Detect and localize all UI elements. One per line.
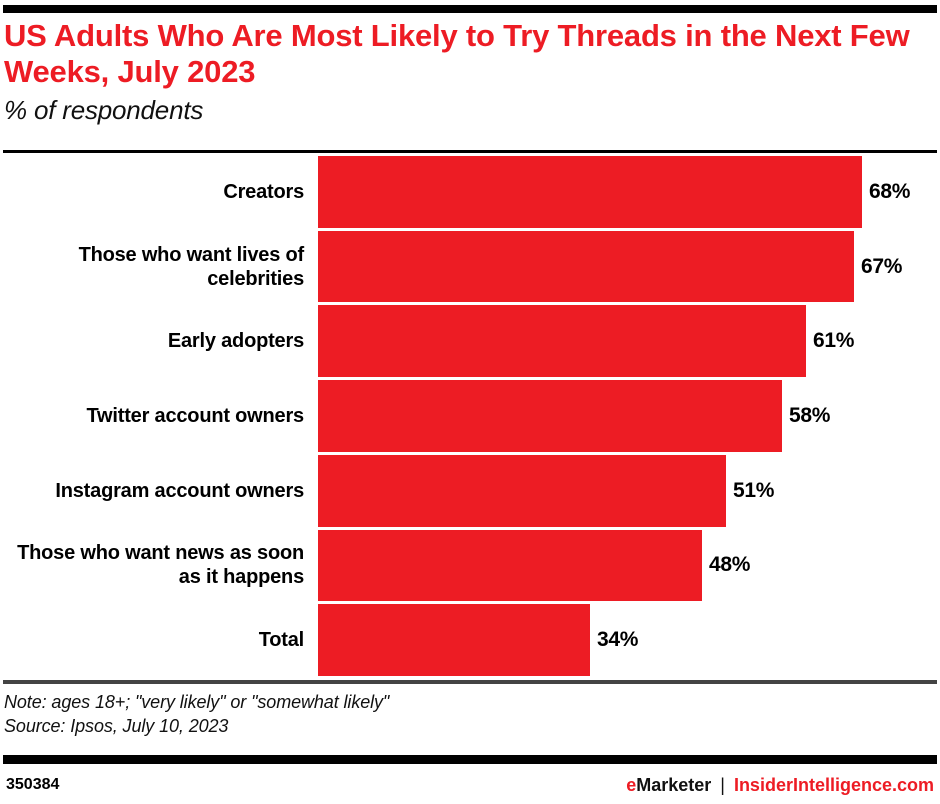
bar[interactable] [318,305,806,377]
brand-e: e [626,775,636,796]
brand-separator: | [711,775,734,796]
bar-zone: 34% [318,604,940,676]
page-title: US Adults Who Are Most Likely to Try Thr… [4,18,924,90]
chart-page: US Adults Who Are Most Likely to Try Thr… [0,0,940,804]
chart-footer: 350384 eMarketer | InsiderIntelligence.c… [0,770,940,800]
bar-category-label: Early adopters [0,305,318,377]
bar-row: Early adopters61% [0,305,940,377]
chart-subtitle: % of respondents [4,95,924,126]
bar-category-label: Instagram account owners [0,455,318,527]
bar-zone: 51% [318,455,940,527]
source-line: Source: Ipsos, July 10, 2023 [4,714,904,738]
bar-zone: 67% [318,231,940,303]
bar-category-label: Creators [0,156,318,228]
plot-bottom-rule [3,680,937,684]
bar-category-label: Total [0,604,318,676]
bar-category-label: Those who want lives of celebrities [0,231,318,303]
bar[interactable] [318,530,702,602]
brand-website[interactable]: InsiderIntelligence.com [734,775,934,796]
bar[interactable] [318,231,854,303]
note-line: Note: ages 18+; "very likely" or "somewh… [4,690,904,714]
brand-marketer: Marketer [636,775,711,796]
bar[interactable] [318,156,862,228]
brand-lockup: eMarketer | InsiderIntelligence.com [626,775,934,796]
bar-row: Total34% [0,604,940,676]
bar-row: Twitter account owners58% [0,380,940,452]
bar-zone: 61% [318,305,940,377]
footer-rule-divider [3,755,937,764]
bar-row: Those who want lives of celebrities67% [0,231,940,303]
bar-value-label: 68% [862,180,910,204]
bar-value-label: 51% [726,479,774,503]
bar-category-label: Twitter account owners [0,380,318,452]
plot-top-rule [3,150,937,153]
bar[interactable] [318,604,590,676]
chart-header: US Adults Who Are Most Likely to Try Thr… [4,18,924,126]
bar-row: Those who want news as soon as it happen… [0,530,940,602]
bar-zone: 48% [318,530,940,602]
bar-value-label: 67% [854,255,902,279]
bar-zone: 68% [318,156,940,228]
top-rule-divider [3,5,937,13]
chart-notes: Note: ages 18+; "very likely" or "somewh… [4,690,904,738]
bar[interactable] [318,455,726,527]
bar-value-label: 58% [782,404,830,428]
bar-zone: 58% [318,380,940,452]
bar-row: Creators68% [0,156,940,228]
chart-id: 350384 [6,776,59,794]
bar-chart-plot: Creators68%Those who want lives of celeb… [0,156,940,676]
bar-value-label: 48% [702,553,750,577]
bar-value-label: 61% [806,329,854,353]
bar-value-label: 34% [590,628,638,652]
bar-category-label: Those who want news as soon as it happen… [0,530,318,602]
bar[interactable] [318,380,782,452]
bar-row: Instagram account owners51% [0,455,940,527]
